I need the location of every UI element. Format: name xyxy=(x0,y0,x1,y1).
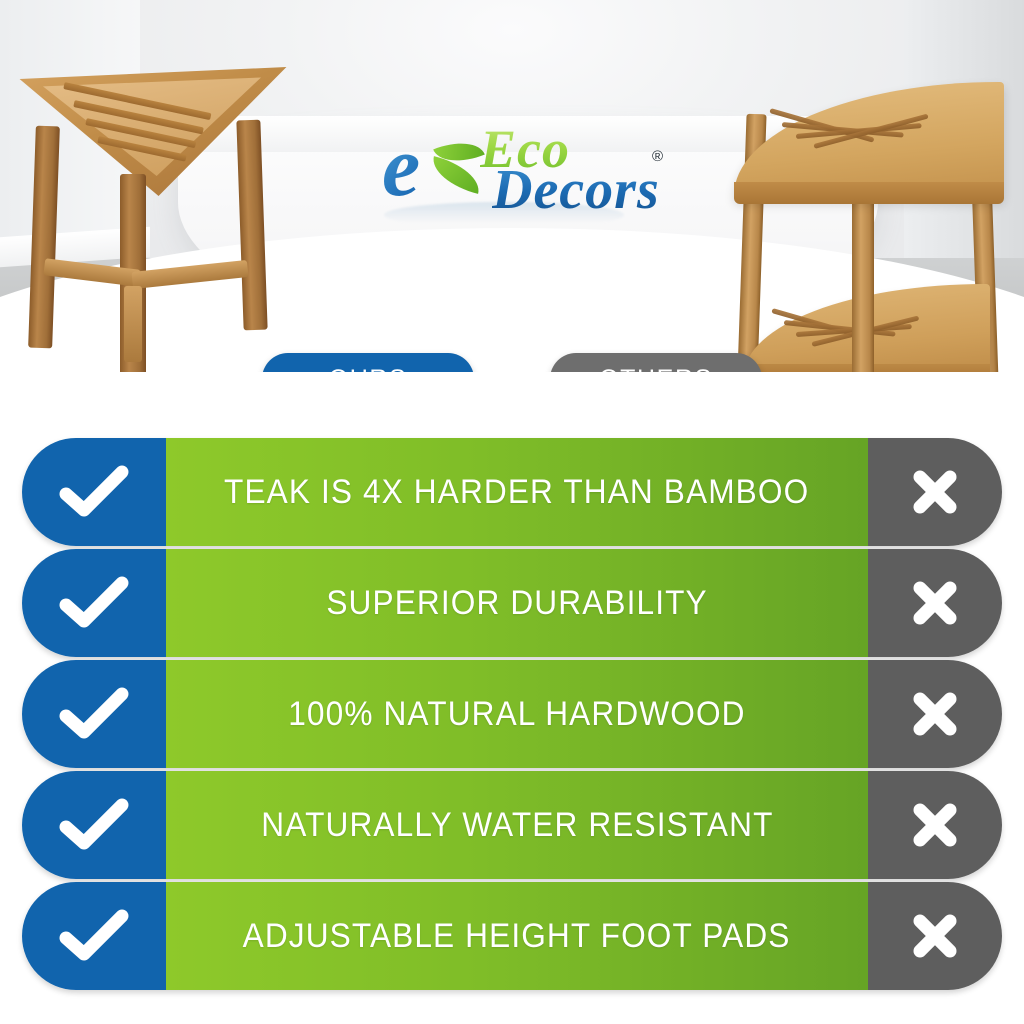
ours-cell xyxy=(22,771,166,879)
ours-cell xyxy=(22,882,166,990)
check-icon xyxy=(58,575,130,631)
table-row: ADJUSTABLE HEIGHT FOOT PADS xyxy=(22,882,1002,990)
teak-stretcher xyxy=(131,260,248,289)
others-cell xyxy=(868,771,1002,879)
table-row: TEAK IS 4X HARDER THAN BAMBOO xyxy=(22,438,1002,546)
tab-others-label: OTHERS xyxy=(599,365,713,373)
table-row: SUPERIOR DURABILITY xyxy=(22,549,1002,657)
feature-cell: NATURALLY WATER RESISTANT xyxy=(166,771,868,879)
cross-icon xyxy=(910,578,960,628)
feature-cell: TEAK IS 4X HARDER THAN BAMBOO xyxy=(166,438,868,546)
others-cell xyxy=(868,660,1002,768)
registered-trademark-icon: ® xyxy=(652,148,663,165)
check-icon xyxy=(58,908,130,964)
hero-product-banner: e Eco Decors ® OURS OTHERS xyxy=(0,0,1024,372)
cross-icon xyxy=(910,467,960,517)
feature-label: SUPERIOR DURABILITY xyxy=(326,584,707,623)
tab-ours[interactable]: OURS xyxy=(262,353,474,372)
ours-cell xyxy=(22,660,166,768)
tab-ours-label: OURS xyxy=(329,365,408,373)
feature-cell: 100% NATURAL HARDWOOD xyxy=(166,660,868,768)
table-row: NATURALLY WATER RESISTANT xyxy=(22,771,1002,879)
feature-label: ADJUSTABLE HEIGHT FOOT PADS xyxy=(243,917,791,956)
teak-leg xyxy=(236,120,267,331)
check-icon xyxy=(58,797,130,853)
logo-text-decors: Decors xyxy=(492,158,660,222)
teak-stool-image xyxy=(8,34,296,372)
ours-cell xyxy=(22,549,166,657)
teak-leg xyxy=(28,126,60,349)
eco-decors-logo: e Eco Decors ® xyxy=(380,118,680,228)
others-cell xyxy=(868,882,1002,990)
cross-icon xyxy=(910,800,960,850)
feature-label: NATURALLY WATER RESISTANT xyxy=(261,806,773,845)
bamboo-stool-image xyxy=(726,64,1024,372)
ours-cell xyxy=(22,438,166,546)
cross-icon xyxy=(910,911,960,961)
check-icon xyxy=(58,464,130,520)
feature-label: TEAK IS 4X HARDER THAN BAMBOO xyxy=(224,473,809,512)
bamboo-seat-edge xyxy=(734,182,1004,204)
others-cell xyxy=(868,549,1002,657)
feature-label: 100% NATURAL HARDWOOD xyxy=(288,695,745,734)
tab-others[interactable]: OTHERS xyxy=(550,353,762,372)
table-row: 100% NATURAL HARDWOOD xyxy=(22,660,1002,768)
feature-cell: SUPERIOR DURABILITY xyxy=(166,549,868,657)
cross-icon xyxy=(910,689,960,739)
teak-stretcher xyxy=(124,286,142,362)
others-cell xyxy=(868,438,1002,546)
check-icon xyxy=(58,686,130,742)
comparison-table: TEAK IS 4X HARDER THAN BAMBOO SUPERIOR D… xyxy=(0,438,1024,993)
feature-cell: ADJUSTABLE HEIGHT FOOT PADS xyxy=(166,882,868,990)
